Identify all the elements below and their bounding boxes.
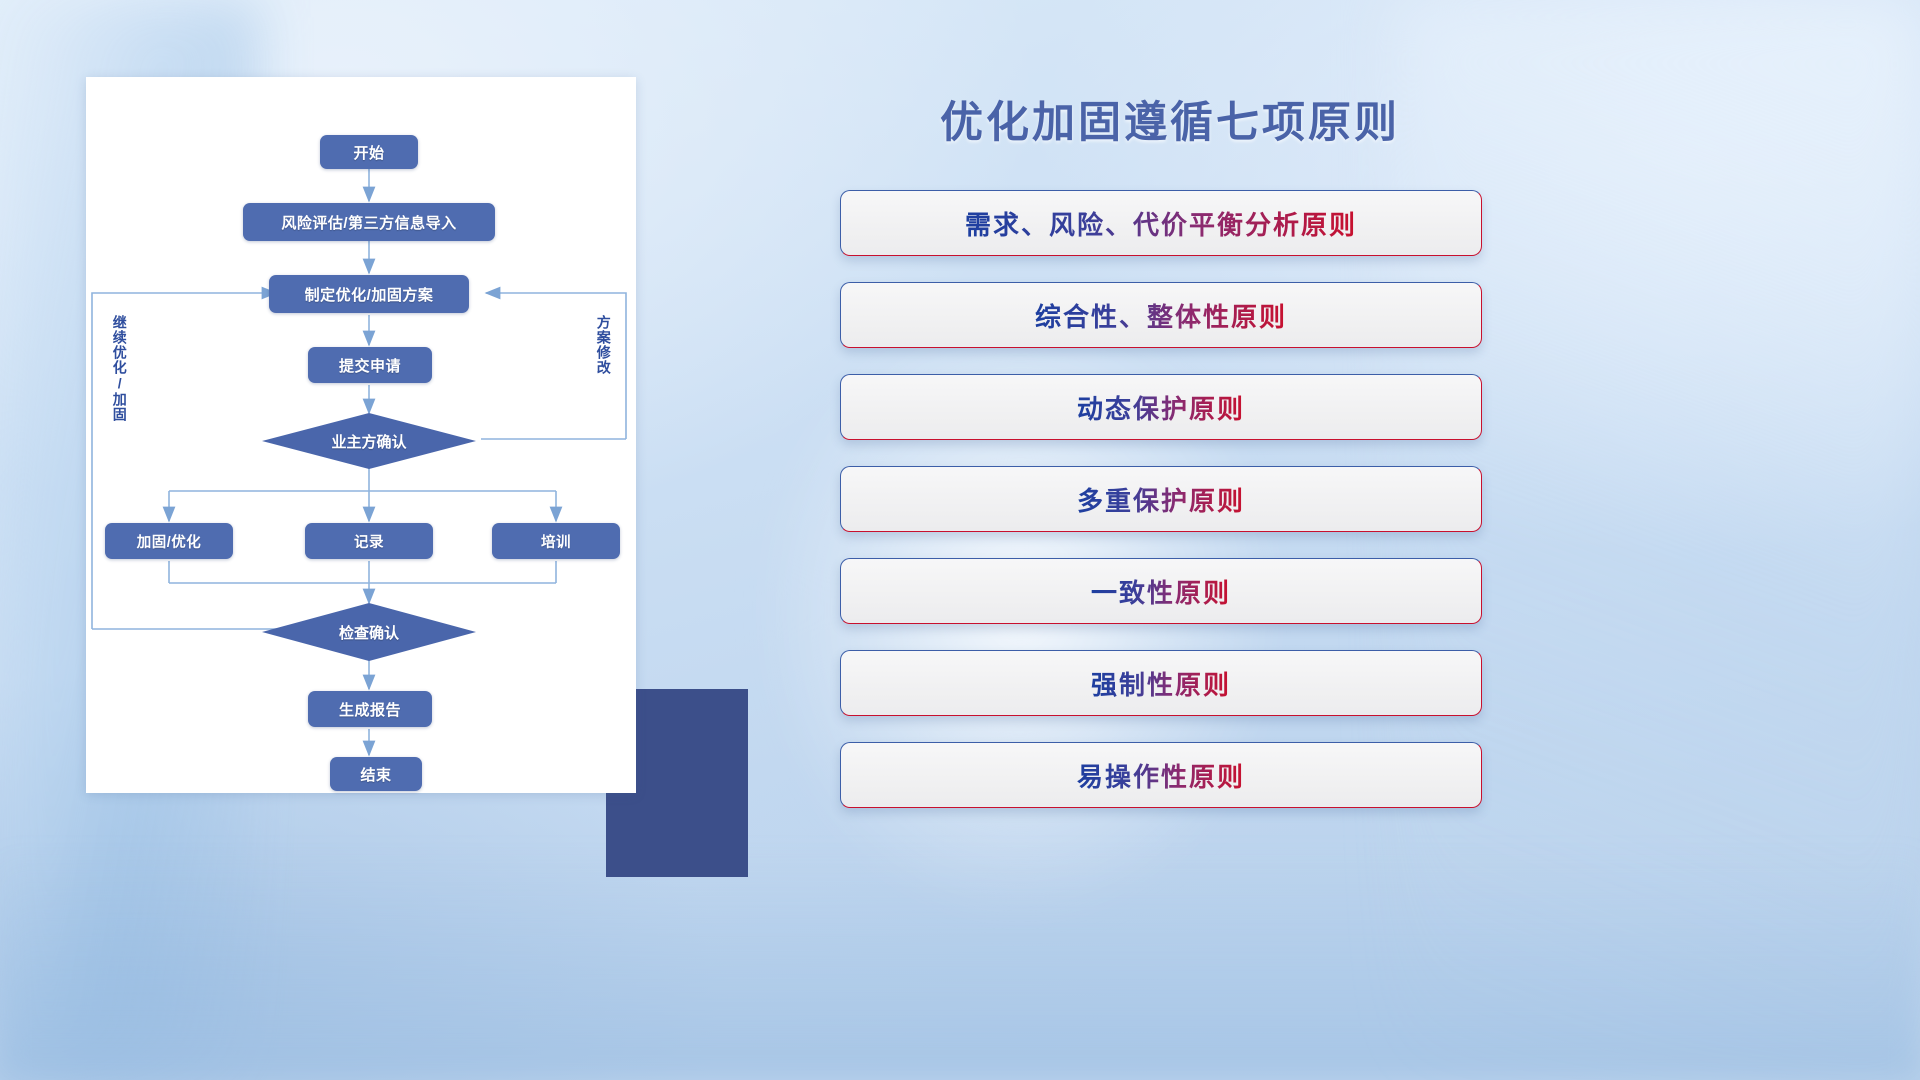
principle-card-1-label: 需求、风险、代价平衡分析原则: [965, 205, 1357, 242]
principle-card-2-label: 综合性、整体性原则: [1035, 297, 1287, 334]
principle-card-2[interactable]: 综合性、整体性原则: [840, 282, 1482, 348]
principle-card-4-label: 多重保护原则: [1077, 481, 1245, 518]
flow-node-record[interactable]: 记录: [305, 523, 433, 559]
flow-node-training[interactable]: 培训: [492, 523, 620, 559]
flow-node-start-label: 开始: [353, 142, 384, 163]
flow-node-end-label: 结束: [360, 764, 391, 785]
flow-node-submit-application-label: 提交申请: [339, 355, 401, 376]
flow-node-record-label: 记录: [354, 531, 384, 552]
flow-node-risk-assessment[interactable]: 风险评估/第三方信息导入: [243, 203, 495, 241]
flow-node-plan-label: 制定优化/加固方案: [305, 284, 434, 305]
page-title: 优化加固遵循七项原则: [940, 88, 1400, 150]
principles-panel: 优化加固遵循七项原则 需求、风险、代价平衡分析原则 综合性、整体性原则 动态保护…: [820, 0, 1920, 1080]
flow-label-continue-optimize: 继续优化/加固: [112, 315, 127, 455]
principle-card-7[interactable]: 易操作性原则: [840, 742, 1482, 808]
flow-node-submit-application[interactable]: 提交申请: [308, 347, 432, 383]
flow-node-training-label: 培训: [541, 531, 571, 552]
flow-node-reinforce[interactable]: 加固/优化: [105, 523, 233, 559]
flow-node-generate-report-label: 生成报告: [339, 699, 401, 720]
principle-card-3-label: 动态保护原则: [1077, 389, 1245, 426]
flow-node-generate-report[interactable]: 生成报告: [308, 691, 432, 727]
principle-card-7-label: 易操作性原则: [1077, 757, 1245, 794]
flow-node-end[interactable]: 结束: [330, 757, 422, 791]
principle-card-3[interactable]: 动态保护原则: [840, 374, 1482, 440]
flow-label-plan-revision: 方案修改: [596, 315, 611, 425]
flow-node-risk-assessment-label: 风险评估/第三方信息导入: [281, 212, 456, 233]
principle-card-5[interactable]: 一致性原则: [840, 558, 1482, 624]
flow-node-plan[interactable]: 制定优化/加固方案: [269, 275, 469, 313]
flow-node-reinforce-label: 加固/优化: [137, 531, 202, 552]
principle-card-4[interactable]: 多重保护原则: [840, 466, 1482, 532]
principle-card-6-label: 强制性原则: [1091, 665, 1231, 702]
flow-node-start[interactable]: 开始: [320, 135, 418, 169]
flow-decision-owner-confirm-label: 业主方确认: [331, 431, 406, 452]
flowchart-panel: 开始 风险评估/第三方信息导入 制定优化/加固方案 提交申请 业主方确认 加固/…: [86, 77, 636, 793]
flow-decision-inspection-label: 检查确认: [339, 622, 399, 643]
principles-list: 需求、风险、代价平衡分析原则 综合性、整体性原则 动态保护原则 多重保护原则 一…: [840, 190, 1500, 834]
principle-card-6[interactable]: 强制性原则: [840, 650, 1482, 716]
flowchart-canvas: 开始 风险评估/第三方信息导入 制定优化/加固方案 提交申请 业主方确认 加固/…: [86, 77, 636, 793]
principle-card-5-label: 一致性原则: [1091, 573, 1231, 610]
principle-card-1[interactable]: 需求、风险、代价平衡分析原则: [840, 190, 1482, 256]
